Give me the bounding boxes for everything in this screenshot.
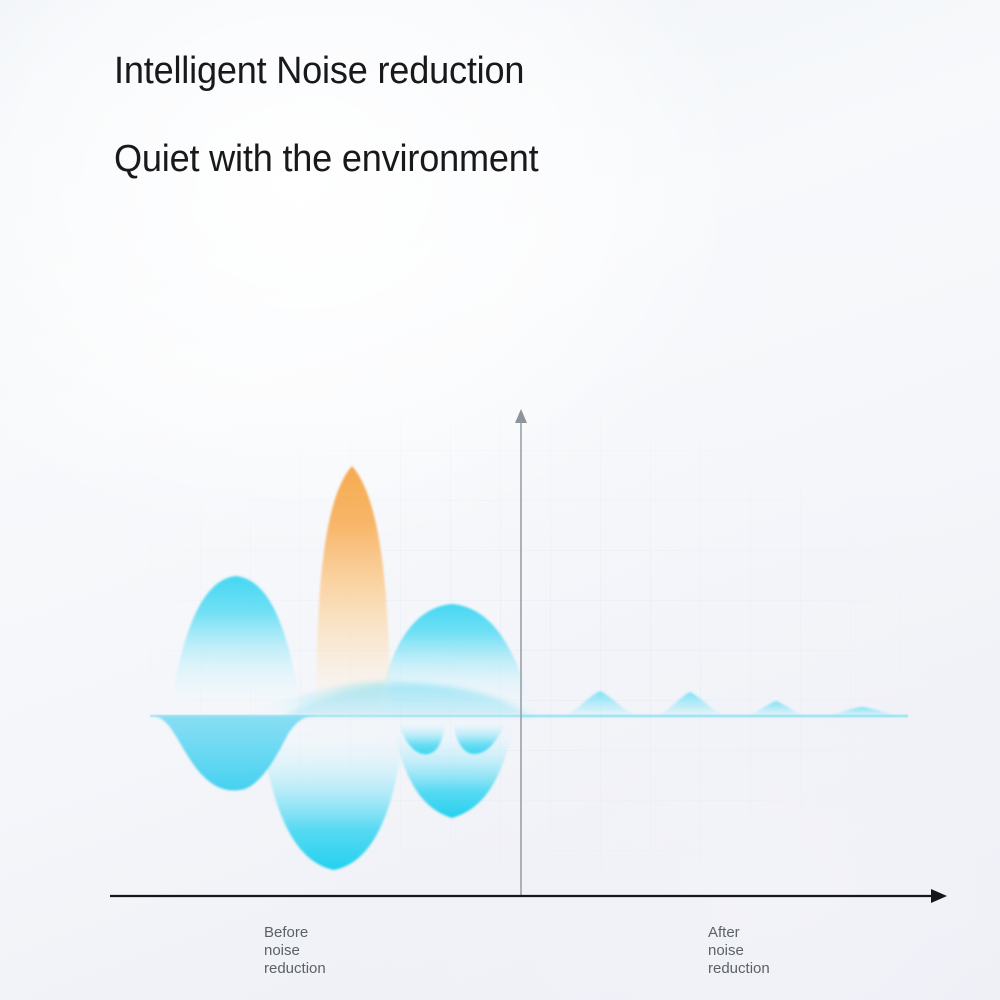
page-title-line-1: Intelligent Noise reduction (114, 52, 836, 90)
page-title-line-2: Quiet with the environment (114, 140, 836, 178)
page-background: Intelligent Noise reduction Quiet with t… (0, 0, 1000, 1000)
right-arrow-icon (931, 889, 947, 903)
caption-before-noise-reduction: Before noise reduction (264, 924, 326, 978)
caption-after-noise-reduction: After noise reduction (708, 924, 770, 978)
heading-block: Intelligent Noise reduction Quiet with t… (114, 52, 874, 178)
